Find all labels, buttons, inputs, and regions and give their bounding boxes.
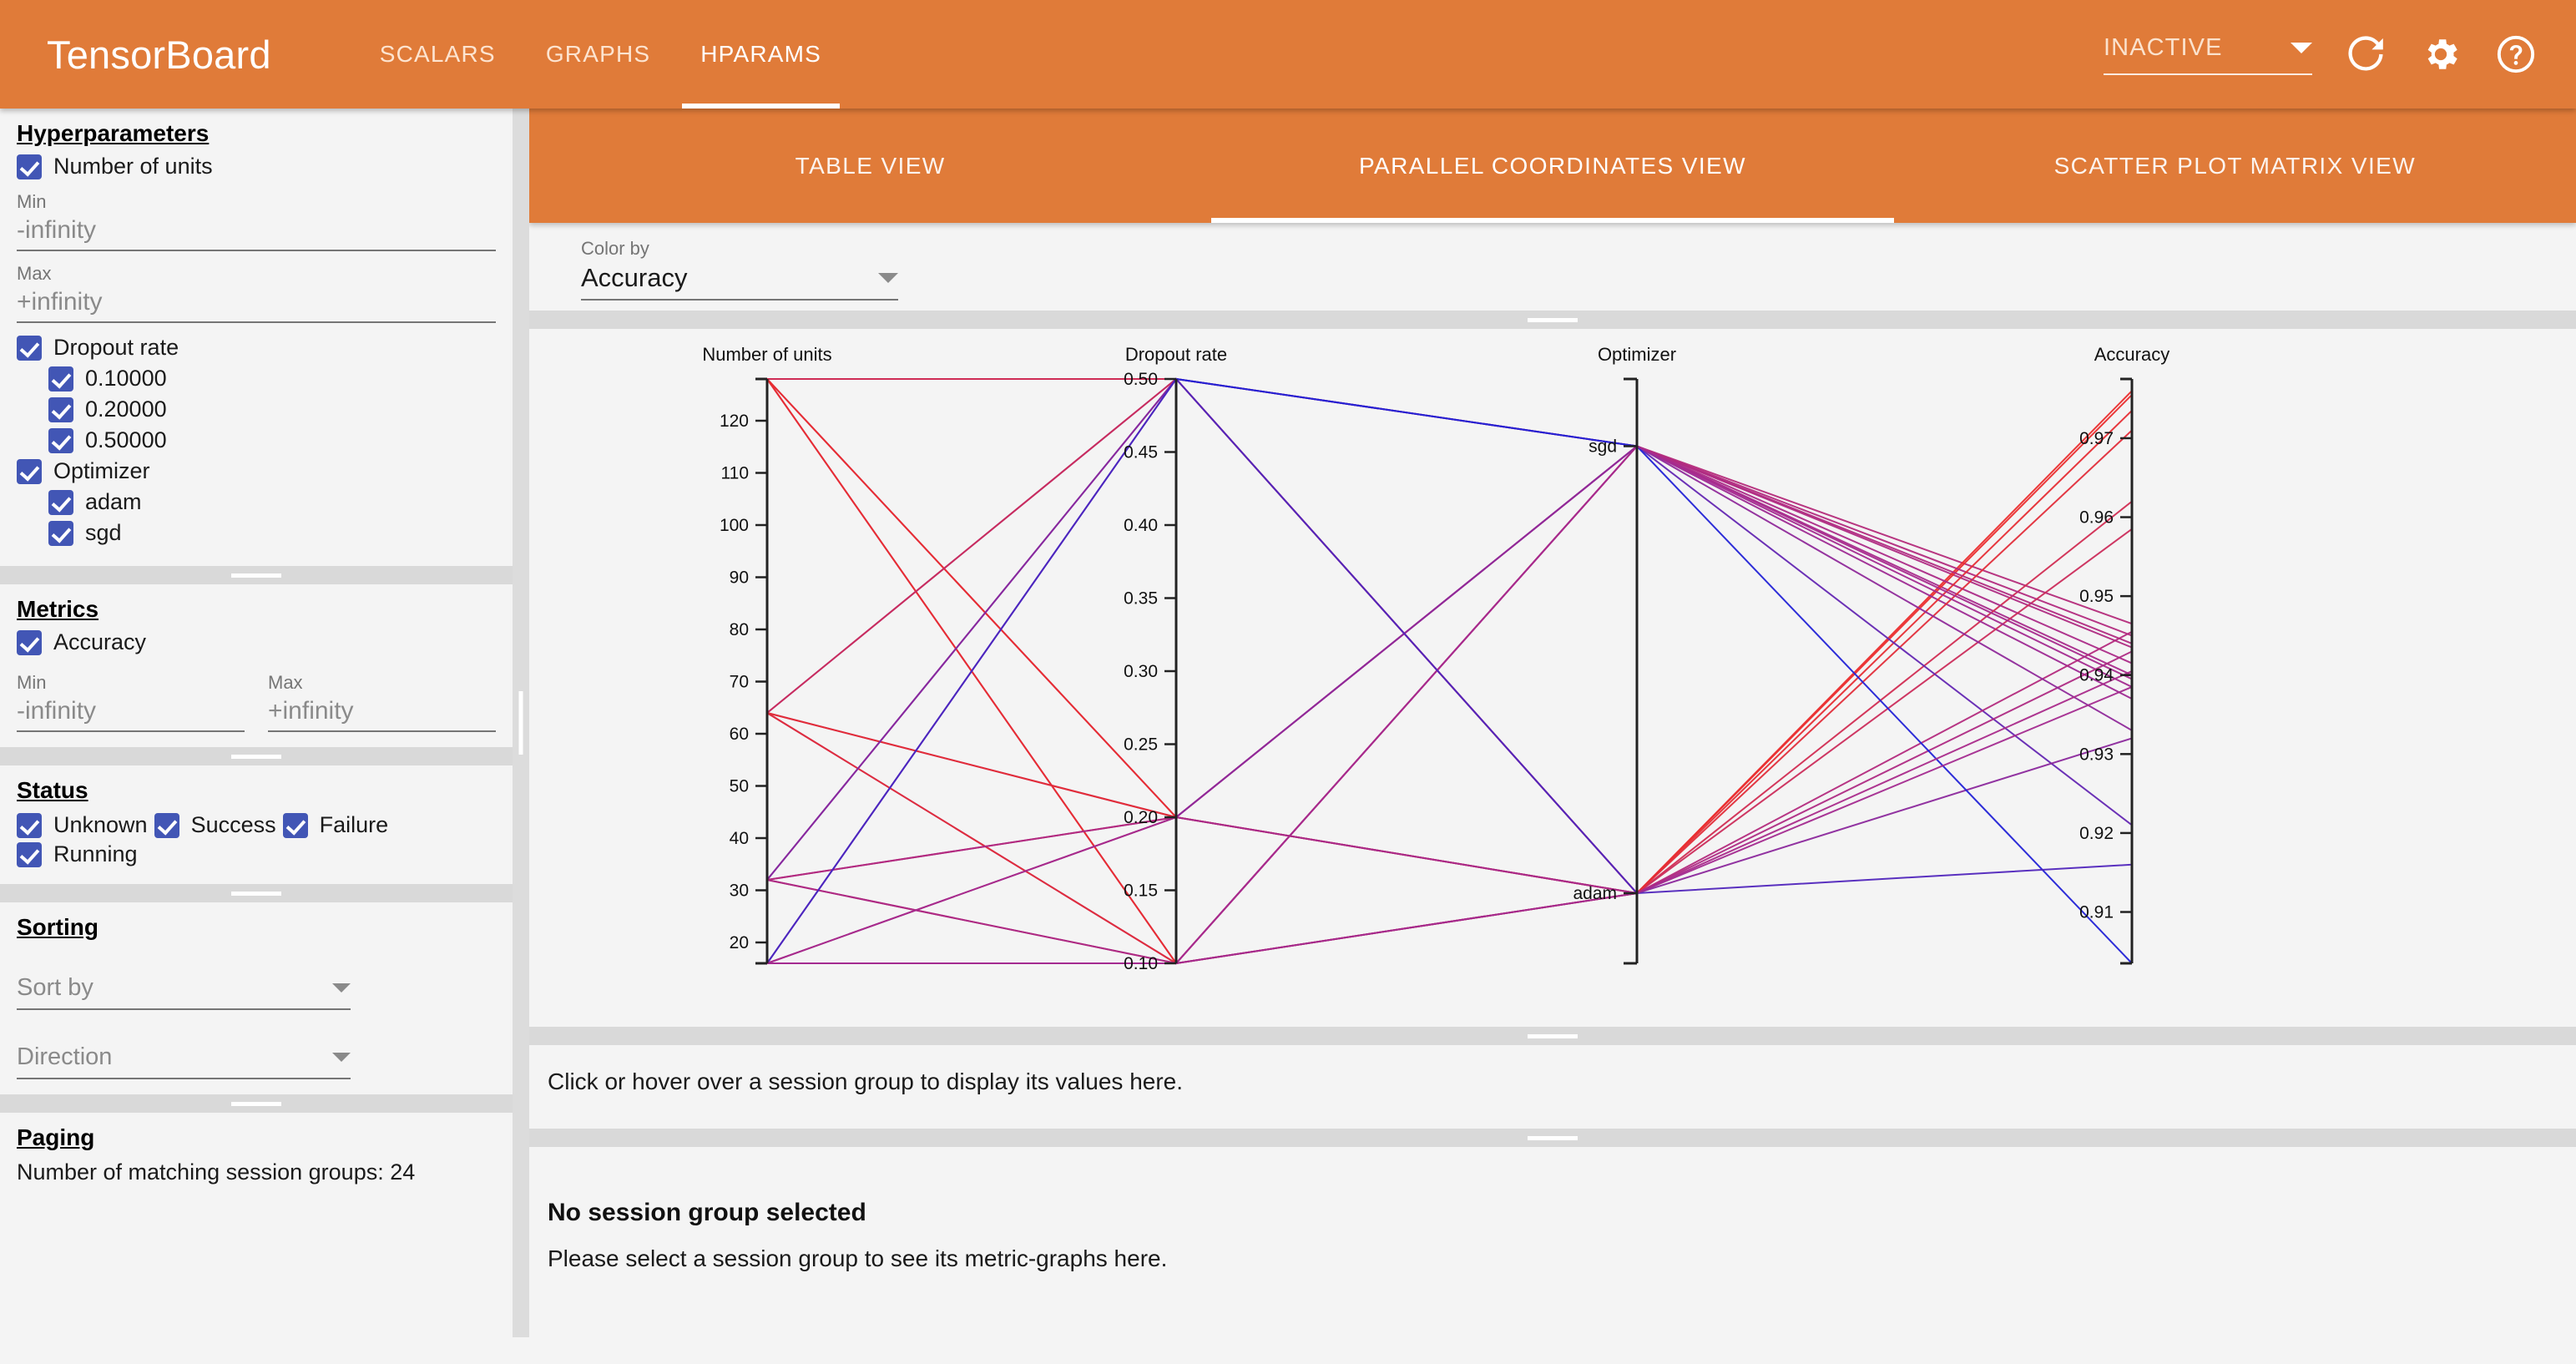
value-label: 0.10000 [85,366,167,392]
color-by-value: Accuracy [581,263,687,293]
session-splitter[interactable] [529,1129,2576,1147]
optimizer-value-1[interactable]: sgd [17,520,496,546]
checkbox-icon[interactable] [48,490,73,515]
value-label: adam [85,489,142,515]
field-value: +infinity [17,288,496,316]
hparam-label: Optimizer [53,458,150,484]
status-label: Unknown [53,812,148,838]
metric-label: Accuracy [53,629,146,655]
status-label: Failure [320,812,389,838]
drag-grip[interactable] [231,573,281,578]
top-nav-graphs[interactable]: GRAPHS [521,0,675,109]
chevron-down-icon [878,273,898,283]
status-unknown[interactable]: Unknown [17,812,148,838]
svg-text:80: 80 [730,620,749,639]
svg-text:0.93: 0.93 [2079,745,2114,764]
accuracy-max-field[interactable]: Max +infinity [268,672,496,732]
paging-title: Paging [17,1124,496,1151]
chevron-down-icon [332,983,351,993]
chevron-down-icon [332,1053,351,1062]
metrics-title: Metrics [17,596,496,623]
svg-text:0.40: 0.40 [1124,516,1158,535]
sort-by-value: Sort by [17,974,93,1002]
svg-text:0.50: 0.50 [1124,370,1158,389]
svg-text:adam: adam [1573,884,1617,903]
hparam-label: Number of units [53,154,213,179]
hover-values-pane: Click or hover over a session group to d… [529,1045,2576,1129]
main-content: TABLE VIEW PARALLEL COORDINATES VIEW SCA… [529,109,2576,1337]
optimizer-value-0[interactable]: adam [17,489,496,515]
svg-text:110: 110 [721,464,749,483]
metric-accuracy[interactable]: Accuracy [17,629,496,655]
checkbox-icon[interactable] [17,154,42,179]
svg-text:Dropout rate: Dropout rate [1125,344,1227,365]
accuracy-min-field[interactable]: Min -infinity [17,672,245,732]
chevron-down-icon [2291,43,2312,53]
svg-text:Optimizer: Optimizer [1598,344,1676,365]
svg-text:0.35: 0.35 [1124,589,1158,609]
hyperparameters-panel: Hyperparameters Number of units Min -inf… [0,109,513,566]
num-units-min-field[interactable]: Min -infinity [17,191,496,251]
tab-parallel-coordinates-view[interactable]: PARALLEL COORDINATES VIEW [1211,109,1893,223]
checkbox-icon[interactable] [17,842,42,867]
colorby-bar: Color by Accuracy [529,223,2576,311]
drag-grip[interactable] [231,1102,281,1106]
panel-divider-status[interactable] [0,884,513,902]
field-value: +infinity [268,697,496,725]
header-actions: INACTIVE [2104,33,2576,76]
checkbox-icon[interactable] [48,521,73,546]
svg-text:60: 60 [730,725,749,744]
hparam-dropout-rate[interactable]: Dropout rate [17,335,496,361]
svg-text:90: 90 [730,568,749,588]
drag-grip[interactable] [519,691,523,755]
dropout-value-2[interactable]: 0.50000 [17,427,496,453]
status-title: Status [17,777,496,804]
svg-text:0.91: 0.91 [2079,903,2114,922]
view-tabs: TABLE VIEW PARALLEL COORDINATES VIEW SCA… [529,109,2576,223]
chart-top-splitter[interactable] [529,311,2576,329]
num-units-max-field[interactable]: Max +infinity [17,263,496,323]
svg-text:0.95: 0.95 [2079,587,2114,606]
checkbox-icon[interactable] [17,630,42,655]
checkbox-icon[interactable] [17,336,42,361]
svg-text:30: 30 [730,882,749,901]
top-nav: SCALARS GRAPHS HPARAMS [355,0,846,109]
dropout-value-0[interactable]: 0.10000 [17,366,496,392]
drag-grip[interactable] [1528,318,1578,322]
hparam-optimizer[interactable]: Optimizer [17,458,496,484]
svg-text:120: 120 [720,412,749,431]
session-group-title: No session group selected [548,1199,2558,1227]
svg-text:0.92: 0.92 [2079,824,2114,843]
svg-text:0.96: 0.96 [2079,508,2114,528]
hyperparameters-title: Hyperparameters [17,120,496,147]
field-label: Min [17,672,245,694]
chart-bottom-splitter[interactable] [529,1027,2576,1045]
drag-grip[interactable] [1528,1034,1578,1038]
matching-session-groups: Number of matching session groups: 24 [17,1159,496,1185]
svg-text:0.30: 0.30 [1124,662,1158,681]
value-label: sgd [85,520,122,546]
parallel-coordinates-svg[interactable]: Number of units2030405060708090100110120… [529,329,2576,1027]
drag-grip[interactable] [231,892,281,896]
gear-icon[interactable] [2419,33,2462,76]
metrics-panel: Metrics Accuracy Min -infinity Max +infi… [0,584,513,747]
status-label: Success [191,812,276,838]
field-value: -infinity [17,697,245,725]
session-group-subtitle: Please select a session group to see its… [548,1245,2558,1272]
color-by-label: Color by [581,238,898,260]
status-panel: Status Unknown Success Failure Running [0,765,513,884]
svg-text:0.45: 0.45 [1124,443,1158,462]
svg-text:40: 40 [730,829,749,848]
panel-divider-hparams[interactable] [0,566,513,584]
value-label: 0.20000 [85,397,167,422]
svg-text:0.15: 0.15 [1124,882,1158,901]
hparam-number-of-units[interactable]: Number of units [17,154,496,179]
svg-text:0.20: 0.20 [1124,808,1158,827]
drag-grip[interactable] [1528,1136,1578,1140]
sorting-panel: Sorting Sort by Direction [0,902,513,1094]
session-group-pane: No session group selected Please select … [529,1147,2576,1364]
help-icon[interactable] [2494,33,2538,76]
parallel-coordinates-chart[interactable]: Number of units2030405060708090100110120… [529,329,2576,1027]
dropout-value-1[interactable]: 0.20000 [17,397,496,422]
svg-text:100: 100 [720,516,749,535]
field-value: -infinity [17,216,496,245]
run-state-select[interactable]: INACTIVE [2104,34,2312,75]
checkbox-icon[interactable] [48,428,73,453]
checkbox-icon[interactable] [17,459,42,484]
sidebar-resize-handle[interactable] [513,109,529,1337]
value-label: 0.50000 [85,427,167,453]
checkbox-icon[interactable] [48,366,73,392]
svg-text:20: 20 [730,933,749,952]
sidebar: Hyperparameters Number of units Min -inf… [0,109,513,1337]
app-header: TensorBoard SCALARS GRAPHS HPARAMS INACT… [0,0,2576,109]
panel-divider-sorting[interactable] [0,1094,513,1113]
field-label: Max [17,263,496,285]
field-label: Max [268,672,496,694]
direction-select[interactable]: Direction [17,1043,351,1079]
svg-text:0.97: 0.97 [2079,429,2114,448]
status-label: Running [53,841,138,867]
checkbox-icon[interactable] [17,813,42,838]
sorting-title: Sorting [17,914,496,941]
svg-text:0.25: 0.25 [1124,735,1158,755]
top-nav-hparams[interactable]: HPARAMS [675,0,846,109]
color-by-select[interactable]: Color by Accuracy [581,238,898,301]
svg-text:sgd: sgd [1589,437,1617,457]
paging-panel: Paging Number of matching session groups… [0,1113,513,1200]
run-state-value: INACTIVE [2104,34,2223,62]
status-failure[interactable]: Failure [283,812,389,838]
hover-hint-text: Click or hover over a session group to d… [548,1068,2558,1095]
tab-scatter-plot-matrix-view[interactable]: SCATTER PLOT MATRIX VIEW [1894,109,2576,223]
svg-text:0.94: 0.94 [2079,666,2114,685]
checkbox-icon[interactable] [154,813,179,838]
svg-text:70: 70 [730,673,749,692]
field-label: Min [17,191,496,213]
reload-icon[interactable] [2344,33,2387,76]
top-nav-scalars[interactable]: SCALARS [355,0,521,109]
svg-text:50: 50 [730,777,749,796]
tab-table-view[interactable]: TABLE VIEW [529,109,1211,223]
hparam-label: Dropout rate [53,335,179,361]
app-title: TensorBoard [47,32,271,78]
svg-text:Number of units: Number of units [702,344,831,365]
status-running[interactable]: Running [17,841,489,867]
checkbox-icon[interactable] [283,813,308,838]
drag-grip[interactable] [231,755,281,759]
direction-value: Direction [17,1043,112,1071]
panel-divider-metrics[interactable] [0,747,513,765]
status-success[interactable]: Success [154,812,276,838]
sort-by-select[interactable]: Sort by [17,974,351,1010]
svg-text:0.10: 0.10 [1124,954,1158,973]
svg-text:Accuracy: Accuracy [2094,344,2169,365]
checkbox-icon[interactable] [48,397,73,422]
